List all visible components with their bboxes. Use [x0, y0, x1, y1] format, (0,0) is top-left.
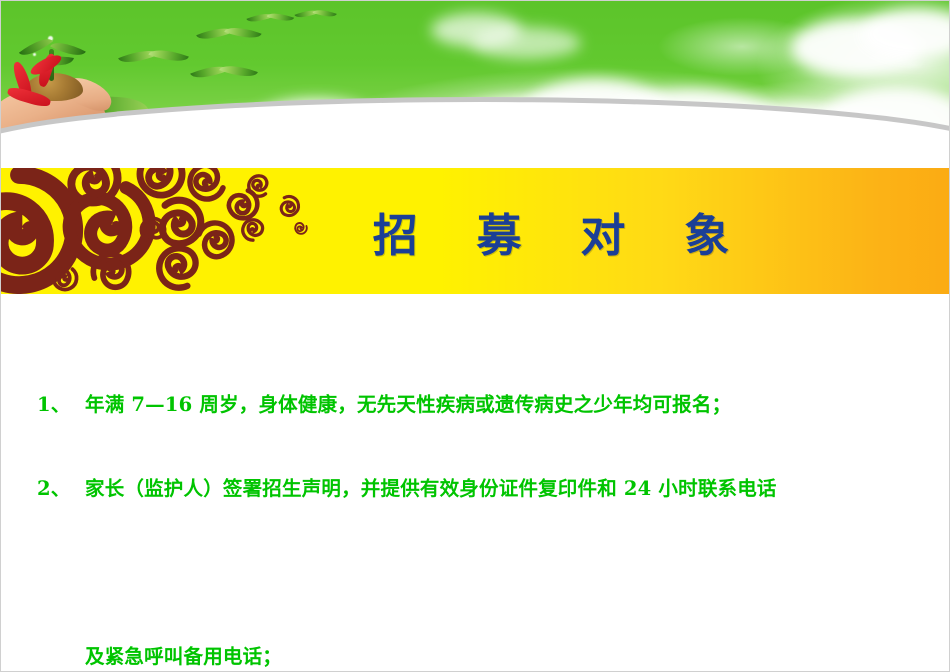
item-number: 1、	[37, 391, 85, 419]
requirements-list: 1、年满 7—16 周岁，身体健康，无先天性疾病或遗传病史之少年均可报名； 2、…	[37, 335, 937, 672]
item-text: 年满 7—16 周岁，身体健康，无先天性疾病或遗传病史之少年均可报名；	[85, 393, 731, 416]
list-item-continuation: 及紧急呼叫备用电话；	[37, 643, 937, 671]
page-title: 招 募 对 象	[1, 168, 950, 294]
item-text: 及紧急呼叫备用电话；	[85, 645, 282, 668]
item-number: 2、	[37, 475, 85, 503]
blank-line	[37, 559, 937, 587]
slide-root: 招 募 对 象 1、年满 7—16 周岁，身体健康，无先天性疾病或遗传病史之少年…	[0, 0, 950, 672]
title-banner: 招 募 对 象	[1, 168, 950, 294]
red-ribbon	[11, 57, 75, 109]
item-text: 家长（监护人）签署招生声明，并提供有效身份证件复印件和 24 小时联系电话	[85, 477, 777, 500]
cloud-puff	[471, 27, 581, 59]
list-item: 2、家长（监护人）签署招生声明，并提供有效身份证件复印件和 24 小时联系电话	[37, 475, 937, 503]
list-item: 1、年满 7—16 周岁，身体健康，无先天性疾病或遗传病史之少年均可报名；	[37, 391, 937, 419]
hero-header	[1, 1, 950, 153]
